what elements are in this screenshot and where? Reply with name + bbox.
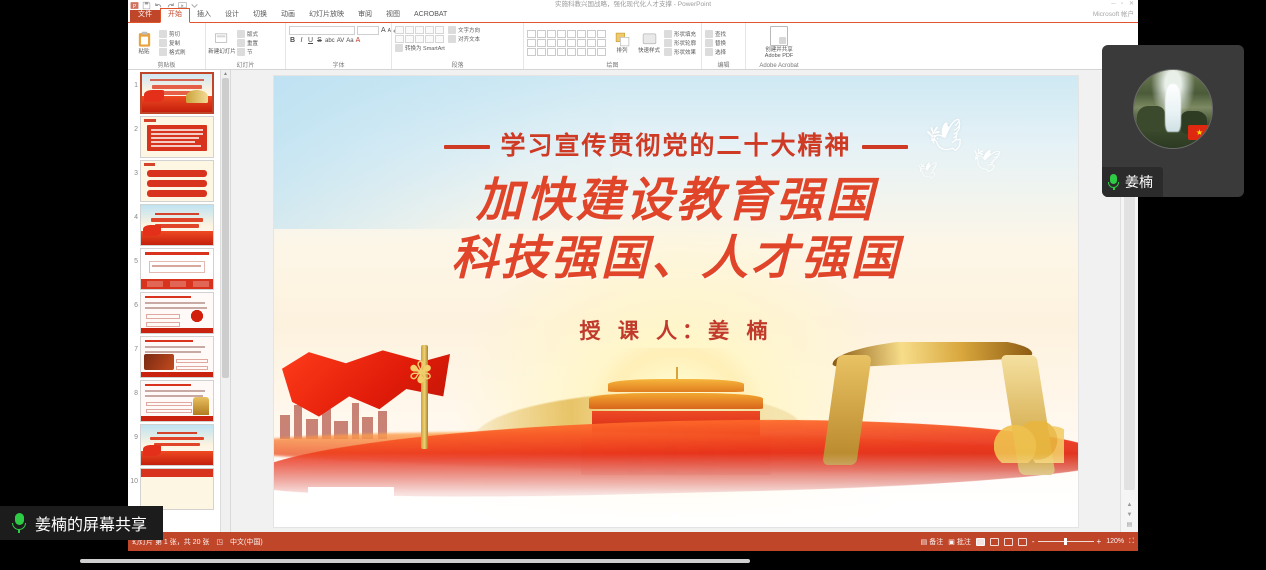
shape-parallelogram-icon[interactable] — [527, 39, 536, 47]
screen-share-text: 姜楠的屏幕共享 — [35, 511, 147, 535]
group-label-slides: 幻灯片 — [206, 60, 285, 69]
shape-fill-button[interactable]: 形状填充 — [664, 30, 696, 38]
shape-fill-icon — [664, 30, 672, 38]
arrange-button[interactable]: 排列 — [610, 31, 634, 54]
layout-label: 版式 — [247, 30, 258, 38]
slide-thumbnail-image — [140, 204, 214, 246]
columns-icon[interactable] — [435, 35, 444, 43]
tab-view[interactable]: 视图 — [379, 9, 407, 22]
slide-sorter-icon[interactable] — [990, 538, 999, 546]
shape-brace-left-icon[interactable] — [557, 48, 566, 56]
mic-on-icon — [1108, 174, 1119, 190]
slide-thumbnail-5[interactable]: 5 — [130, 248, 220, 290]
section-icon — [237, 48, 245, 56]
slide-title-line1: 加快建设教育强国 — [274, 172, 1078, 230]
shape-more2-icon[interactable] — [587, 39, 596, 47]
reset-label: 重置 — [247, 39, 258, 47]
shape-elbow-icon[interactable] — [547, 48, 556, 56]
bullets-icon[interactable] — [395, 26, 404, 34]
slide-title: 加快建设教育强国 科技强国、人才强国 — [274, 172, 1078, 288]
shape-brace-right-icon[interactable] — [567, 48, 576, 56]
increase-font-icon[interactable]: A — [381, 27, 386, 34]
slide-thumbnail-image — [140, 468, 214, 510]
slide-thumbnail-8[interactable]: 8 — [130, 380, 220, 422]
slide-thumbnail-pane: 1 2 — [128, 70, 231, 532]
shape-curve-icon[interactable] — [547, 39, 556, 47]
change-case-icon[interactable]: Aa — [346, 38, 353, 44]
mic-on-icon — [12, 513, 26, 533]
group-label-editing: 编辑 — [702, 60, 745, 69]
increase-indent-icon[interactable] — [425, 26, 434, 34]
shape-square-icon[interactable] — [567, 30, 576, 38]
group-label-acrobat: Adobe Acrobat — [746, 63, 812, 69]
shape-oval-icon[interactable] — [577, 30, 586, 38]
gate-roof-lower — [589, 393, 764, 409]
slide-thumbnail-4[interactable]: 4 — [130, 204, 220, 246]
shape-freeform-icon[interactable] — [527, 48, 536, 56]
line-spacing-icon[interactable] — [435, 26, 444, 34]
align-center-icon[interactable] — [405, 35, 414, 43]
select-label: 选择 — [715, 48, 726, 56]
ribbon-group-drawing: 排列 快速样式 形状填充 形状轮廓 形状效果 绘图 — [524, 23, 702, 69]
slide-thumbnail-image — [140, 116, 214, 158]
group-label-font: 字体 — [286, 60, 391, 69]
status-bar: 幻灯片 第 1 张，共 20 张 ◳ 中文(中国) ▤备注 ▣批注 - + 12… — [128, 532, 1138, 551]
arrange-icon — [614, 31, 631, 48]
quick-styles-icon — [641, 31, 658, 48]
screen-share-label: 姜楠的屏幕共享 — [0, 506, 163, 540]
slide-thumbnail-2[interactable]: 2 — [130, 116, 220, 158]
select-icon — [705, 48, 713, 56]
font-color-icon[interactable]: A — [356, 37, 361, 44]
quick-styles-button[interactable]: 快速样式 — [638, 31, 660, 54]
format-painter-button[interactable]: 格式刷 — [159, 48, 186, 56]
cut-button[interactable]: 剪切 — [159, 30, 186, 38]
kicker-dash-right — [862, 145, 908, 149]
align-right-icon[interactable] — [415, 35, 424, 43]
slide-number: 6 — [130, 292, 138, 309]
adobe-pdf-icon — [770, 26, 788, 46]
shape-rect-icon[interactable] — [527, 30, 536, 38]
next-slide-icon[interactable]: ▼ — [1125, 511, 1134, 520]
slide-number: 4 — [130, 204, 138, 221]
copy-label: 复制 — [169, 39, 180, 47]
slide-thumbnail-list[interactable]: 1 2 — [128, 72, 220, 532]
microsoft-account-label[interactable]: Microsoft 帐户 — [1093, 8, 1134, 18]
slide-accent-dot — [673, 514, 680, 521]
convert-smartart-button[interactable]: 转换为 SmartArt — [395, 44, 445, 52]
new-slide-label: 新建幻灯片 — [208, 49, 236, 55]
normal-view-icon[interactable] — [976, 538, 985, 546]
shape-diamond-icon[interactable] — [567, 39, 576, 47]
previous-slide-icon[interactable]: ▲ — [1125, 501, 1134, 510]
align-left-icon[interactable] — [395, 35, 404, 43]
copy-button[interactable]: 复制 — [159, 39, 186, 47]
arrange-label: 排列 — [616, 48, 627, 54]
shape-callout-icon[interactable] — [587, 48, 596, 56]
text-direction-icon — [448, 26, 456, 34]
participant-name: 姜楠 — [1125, 172, 1153, 192]
align-text-button[interactable]: 对齐文本 — [448, 35, 480, 43]
strikethrough-button[interactable]: abc — [325, 38, 335, 44]
decrease-font-icon[interactable]: A — [388, 28, 391, 34]
decrease-indent-icon[interactable] — [415, 26, 424, 34]
tab-home[interactable]: 开始 — [160, 8, 190, 23]
notes-button[interactable]: ▤备注 — [921, 537, 944, 547]
window-title: 实施科教兴国战略，强化现代化人才支撑 - PowerPoint — [128, 0, 1138, 10]
bold-button[interactable]: B — [289, 37, 296, 44]
avatar-waterfall — [1165, 84, 1181, 132]
find-label: 查找 — [715, 30, 726, 38]
slide-thumbnail-image — [140, 72, 214, 114]
ribbon-group-clipboard: 粘贴 剪切 复制 格式刷 剪贴板 — [128, 23, 206, 69]
layout-icon — [237, 30, 245, 38]
shape-expand-icon[interactable] — [597, 48, 606, 56]
text-direction-label: 文字方向 — [458, 26, 480, 34]
create-share-pdf-button[interactable]: 创建并共享 Adobe PDF — [753, 26, 805, 59]
italic-button[interactable]: I — [298, 37, 305, 44]
slide-thumbnail-9[interactable]: 9 — [130, 424, 220, 466]
cut-label: 剪切 — [169, 30, 180, 38]
zoom-in-button[interactable]: + — [1097, 538, 1102, 546]
slide-thumbnail-image — [140, 292, 214, 334]
new-slide-button[interactable]: 新建幻灯片 — [209, 31, 235, 55]
work-area: 1 2 — [128, 70, 1138, 532]
tab-slideshow[interactable]: 幻灯片放映 — [302, 9, 351, 22]
new-slide-icon — [214, 31, 231, 48]
kicker-dash-left — [444, 145, 490, 149]
zoom-knob[interactable] — [1064, 538, 1067, 545]
layout-button[interactable]: 版式 — [237, 30, 258, 38]
shape-arrow-icon[interactable] — [557, 30, 566, 38]
section-label: 节 — [247, 48, 253, 56]
title-bar: P 实施科教兴国战略，强化现代化人才支撑 - PowerPoint ─ ▫ ✕ — [128, 0, 1138, 10]
tab-review[interactable]: 审阅 — [351, 9, 379, 22]
slide-number: 9 — [130, 424, 138, 441]
thumbnail-scroll-thumb[interactable] — [222, 78, 229, 378]
format-painter-icon — [159, 48, 167, 56]
section-button[interactable]: 节 — [237, 48, 258, 56]
thumbnail-scroll-up-icon[interactable]: ▲ — [221, 70, 230, 78]
slide-thumbnail-image — [140, 160, 214, 202]
china-flag-badge: ★ — [1188, 125, 1210, 140]
text-direction-button[interactable]: 文字方向 — [448, 26, 480, 34]
shape-scroll-down-icon[interactable] — [597, 39, 606, 47]
ribbon-group-acrobat: 创建并共享 Adobe PDF Adobe Acrobat — [746, 23, 812, 69]
window-controls[interactable]: ─ ▫ ✕ — [1111, 0, 1136, 7]
copy-icon — [159, 39, 167, 47]
slide-number: 2 — [130, 116, 138, 133]
thumbnail-scrollbar[interactable]: ▲ — [220, 70, 230, 532]
shape-outline-button[interactable]: 形状轮廓 — [664, 39, 696, 47]
shape-effects-label: 形状效果 — [674, 48, 696, 56]
current-slide[interactable]: 🕊 🕊 🕊 学习宣传贯彻党的二十大精神 加快建设教育强国 科技强国、人才强国 授… — [273, 75, 1079, 528]
numbering-icon[interactable] — [405, 26, 414, 34]
font-name-input[interactable] — [289, 26, 355, 35]
shape-fill-label: 形状填充 — [674, 30, 696, 38]
group-label-clipboard: 剪贴板 — [128, 60, 205, 69]
shape-more-icon[interactable] — [587, 30, 596, 38]
slide-number: 3 — [130, 160, 138, 177]
quick-styles-label: 快速样式 — [638, 48, 660, 54]
group-label-drawing: 绘图 — [524, 60, 701, 69]
ribbon-group-paragraph: 文字方向 对齐文本 转换为 SmartArt 段落 — [392, 23, 524, 69]
slide-title-line2: 科技强国、人才强国 — [274, 230, 1078, 288]
ribbon-tab-strip: 文件 开始 插入 设计 切换 动画 幻灯片放映 审阅 视图 ACROBAT — [128, 10, 1138, 23]
format-painter-label: 格式刷 — [169, 48, 186, 56]
paste-button[interactable]: 粘贴 — [131, 31, 157, 55]
underline-button[interactable]: U — [307, 37, 314, 44]
red-flag-icon: ✾ — [282, 349, 450, 441]
align-text-label: 对齐文本 — [458, 35, 480, 43]
zoom-slider[interactable]: - + — [1032, 538, 1101, 546]
slide-thumbnail-image — [140, 336, 214, 378]
avatar: ★ — [1133, 69, 1213, 149]
share-progress-bar — [80, 559, 750, 563]
slide-number: 8 — [130, 380, 138, 397]
cut-icon — [159, 30, 167, 38]
cloud-icon — [308, 487, 394, 517]
ribbon-group-slides: 新建幻灯片 版式 重置 节 幻灯片 — [206, 23, 286, 69]
align-text-icon — [448, 35, 456, 43]
font-size-input[interactable] — [357, 26, 379, 35]
slide-number: 1 — [130, 72, 138, 89]
group-label-paragraph: 段落 — [392, 60, 523, 69]
shape-arc2-icon[interactable] — [537, 48, 546, 56]
meeting-bottom-bar — [0, 552, 1266, 570]
shape-effects-icon — [664, 48, 672, 56]
replace-icon — [705, 39, 713, 47]
slide-canvas-area: 🕊 🕊 🕊 学习宣传贯彻党的二十大精神 加快建设教育强国 科技强国、人才强国 授… — [232, 70, 1120, 532]
slide-number: 7 — [130, 336, 138, 353]
slide-byline: 授 课 人：姜 楠 — [274, 315, 1078, 345]
replace-button[interactable]: 替换 — [705, 39, 726, 47]
ribbon-group-font: A A ✐ B I U S abc AV Aa A 字体 — [286, 23, 392, 69]
shape-updown-arrow-icon[interactable] — [577, 39, 586, 47]
ribbon-group-editing: 查找 替换 选择 编辑 — [702, 23, 746, 69]
meeting-stage: P 实施科教兴国战略，强化现代化人才支撑 - PowerPoint ─ ▫ ✕ … — [0, 0, 1266, 570]
slide-thumbnail-image — [140, 380, 214, 422]
shape-effects-button[interactable]: 形状效果 — [664, 48, 696, 56]
paste-icon — [136, 31, 153, 48]
shape-bracket-icon[interactable] — [577, 48, 586, 56]
national-emblem-icon: ✾ — [408, 357, 442, 391]
shape-triangle-icon[interactable] — [537, 39, 546, 47]
slide-thumbnail-image — [140, 424, 214, 466]
tab-insert[interactable]: 插入 — [190, 9, 218, 22]
shape-outline-icon — [664, 39, 672, 47]
zoom-level-label[interactable]: 120% — [1106, 538, 1124, 545]
shape-outline-label: 形状轮廓 — [674, 39, 696, 47]
smartart-label: 转换为 SmartArt — [405, 44, 445, 52]
reset-icon — [237, 39, 245, 47]
create-share-pdf-label: 创建并共享 Adobe PDF — [765, 47, 793, 59]
participant-name-bar: 姜楠 — [1102, 167, 1163, 197]
find-button[interactable]: 查找 — [705, 30, 726, 38]
smartart-icon — [395, 44, 403, 52]
tab-transitions[interactable]: 切换 — [246, 9, 274, 22]
comments-label: 批注 — [957, 537, 971, 547]
reset-button[interactable]: 重置 — [237, 39, 258, 47]
slideshow-icon[interactable] — [1018, 538, 1027, 546]
scroll-menu-icon[interactable]: ▤ — [1125, 521, 1134, 530]
zoom-out-button[interactable]: - — [1032, 538, 1035, 546]
paste-label: 粘贴 — [138, 49, 149, 55]
powerpoint-window: P 实施科教兴国战略，强化现代化人才支撑 - PowerPoint ─ ▫ ✕ … — [128, 0, 1138, 551]
shape-gallery[interactable] — [527, 30, 606, 56]
avatar-rock — [1137, 106, 1165, 133]
ribbon: 粘贴 剪切 复制 格式刷 剪贴板 — [128, 23, 1138, 70]
slide-kicker: 学习宣传贯彻党的二十大精神 — [274, 126, 1078, 162]
slide-number: 10 — [130, 468, 138, 485]
replace-label: 替换 — [715, 39, 726, 47]
comments-button[interactable]: ▣批注 — [948, 537, 971, 547]
slide-thumbnail-1[interactable]: 1 — [130, 72, 220, 114]
participant-video-tile[interactable]: ★ 姜楠 — [1102, 45, 1244, 197]
character-spacing-icon[interactable]: AV — [337, 38, 345, 44]
slide-thumbnail-3[interactable]: 3 — [130, 160, 220, 202]
tab-file[interactable]: 文件 — [130, 8, 160, 22]
slide-kicker-text: 学习宣传贯彻党的二十大精神 — [500, 131, 851, 160]
tab-animations[interactable]: 动画 — [274, 9, 302, 22]
notes-icon: ▤ — [921, 538, 928, 546]
reading-view-icon[interactable] — [1004, 538, 1013, 546]
fit-to-window-icon[interactable]: ⛶ — [1129, 538, 1134, 546]
comments-icon: ▣ — [948, 538, 955, 546]
shadow-button[interactable]: S — [316, 37, 323, 44]
slide-thumbnail-6[interactable]: 6 — [130, 292, 220, 334]
zoom-track[interactable] — [1038, 541, 1094, 542]
slide-thumbnail-10[interactable]: 10 — [130, 468, 220, 510]
shape-scroll-up-icon[interactable] — [597, 30, 606, 38]
select-button[interactable]: 选择 — [705, 48, 726, 56]
find-icon — [705, 30, 713, 38]
slide-number: 5 — [130, 248, 138, 265]
gate-roof-top — [608, 379, 745, 392]
tab-acrobat[interactable]: ACROBAT — [407, 9, 454, 22]
slide-thumbnail-image — [140, 248, 214, 290]
notes-label: 备注 — [929, 537, 943, 547]
spellcheck-icon[interactable]: ◳ — [216, 538, 223, 546]
shape-rounded-icon[interactable] — [537, 30, 546, 38]
shape-corner-icon[interactable] — [557, 39, 566, 47]
shape-line-icon[interactable] — [547, 30, 556, 38]
tab-design[interactable]: 设计 — [218, 9, 246, 22]
ribbon-left-tail — [822, 355, 871, 465]
slide-artwork: ✾ — [274, 342, 1078, 527]
language-label[interactable]: 中文(中国) — [230, 537, 263, 547]
justify-icon[interactable] — [425, 35, 434, 43]
slide-thumbnail-7[interactable]: 7 — [130, 336, 220, 378]
